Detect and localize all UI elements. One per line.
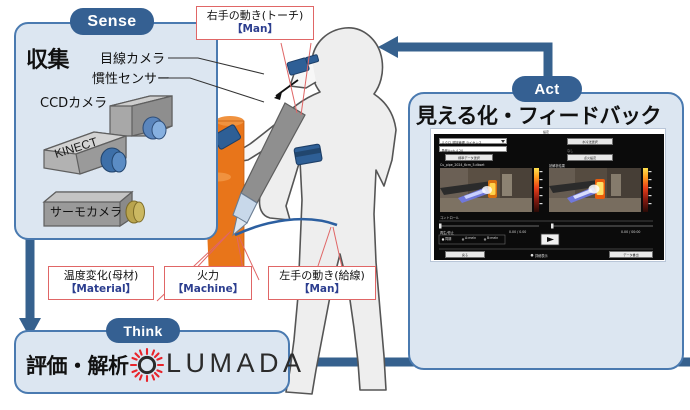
tablet-footer-divider [439, 248, 653, 250]
sense-heading: 収集 [26, 42, 69, 74]
tablet-right-colorbar [643, 168, 652, 212]
tablet-dataset-select-value: ミクロ 溶接管理 ライセンス [442, 140, 482, 145]
feedback-tablet-screenshot: 設定 ミクロ 溶接管理 ライセンス 角度A:ch-4 20 標準データ選択 水冷… [430, 128, 666, 262]
tablet-back-button[interactable]: 戻る [445, 251, 485, 258]
tablet-right-video[interactable] [549, 168, 641, 212]
act-badge: Act [512, 76, 582, 102]
act-heading: 見える化・フィードバック [416, 100, 661, 130]
callout-right-hand-line1: 右手の動き(トーチ) [207, 10, 304, 23]
tablet-radio-label-0: 同期 [445, 236, 451, 241]
callout-flame-line1: 火力 [197, 270, 219, 283]
tablet-angle-value: 角度A:ch-4 20 [442, 148, 464, 153]
callout-left-hand-motion: 左手の動き(給線) 【Man】 [268, 266, 376, 300]
callout-temperature-line1: 温度変化(母材) [64, 270, 139, 283]
tablet-radio-label-1: A:meln [465, 236, 476, 240]
callout-temperature-line2: 【Material】 [66, 283, 136, 296]
sense-label-leaders [168, 44, 328, 114]
chevron-down-icon[interactable] [501, 140, 506, 144]
lumada-wordmark: LUMADA [166, 348, 306, 379]
radio-dot-icon[interactable] [530, 253, 535, 258]
callout-right-hand-line2: 【Man】 [232, 23, 278, 36]
tablet-detail-toggle-label[interactable]: 詳細表示 [535, 253, 548, 258]
label-gaze-camera: 目線カメラ [100, 48, 165, 67]
think-heading: 評価・解析 [26, 350, 129, 380]
sense-badge: Sense [70, 8, 154, 35]
tablet-load-button[interactable]: 標準データ選択 [445, 154, 493, 161]
tablet-export-button[interactable]: データ書出 [609, 251, 653, 258]
callout-left-hand-line2: 【Man】 [299, 283, 345, 296]
tablet-dataset-select[interactable]: ミクロ 溶接管理 ライセンス [439, 138, 507, 144]
callout-left-hand-line1: 左手の動き(給線) [279, 270, 365, 283]
tablet-time-left: 0.00 / 0.00 [509, 230, 526, 234]
tablet-right-sub-label: なし [567, 148, 573, 153]
tablet-timeline-sliders[interactable] [439, 223, 653, 230]
callout-right-hand-motion: 右手の動き(トーチ) 【Man】 [196, 6, 314, 40]
callout-temperature-change: 温度変化(母材) 【Material】 [48, 266, 154, 300]
tablet-angle-input[interactable]: 角度A:ch-4 20 [439, 146, 507, 152]
tablet-time-right: 0.00 / 00:00 [621, 230, 640, 234]
diagram-canvas: Sense 収集 目線カメラ 慣性センサー CCDカメラ KINECT サーモカ… [0, 0, 690, 410]
play-icon[interactable] [541, 234, 559, 245]
tablet-left-video-caption: Cu_pipe_2024_6cm_5.dbset [440, 163, 484, 167]
callout-flame-line2: 【Machine】 [173, 283, 243, 296]
label-ccd-camera: CCDカメラ [40, 92, 107, 111]
callout-flame-power: 火力 【Machine】 [164, 266, 252, 300]
tablet-ignition-button[interactable]: 点火設定 [567, 154, 613, 161]
lumada-sun-icon [130, 348, 164, 382]
label-inertial-sensor: 慣性センサー [92, 68, 170, 87]
label-thermo-camera: サーモカメラ [50, 203, 122, 220]
tablet-water-cooling-button[interactable]: 水冷法選択 [567, 138, 613, 145]
tablet-left-video[interactable] [440, 168, 532, 212]
arrow-sense-to-think [19, 238, 41, 338]
kinect-icon: KINECT [40, 128, 148, 180]
tablet-left-colorbar [534, 168, 543, 212]
think-badge: Think [106, 318, 180, 343]
tablet-radio-label-2: B:meln [487, 236, 498, 240]
